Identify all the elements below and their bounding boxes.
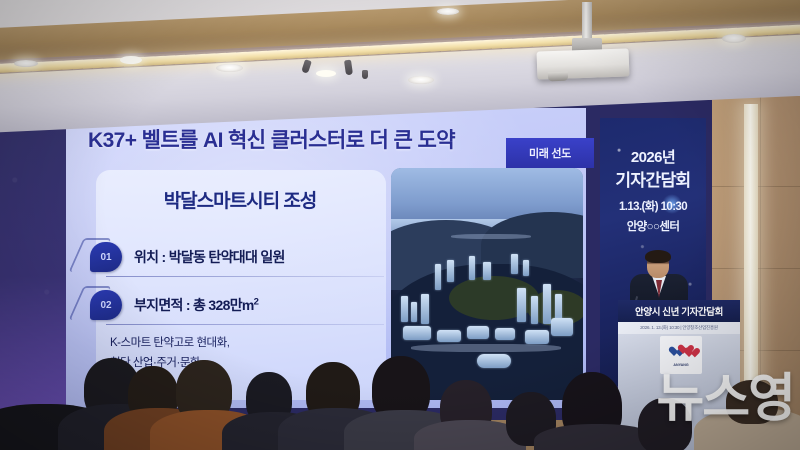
- photo-scene: K37+ 벨트를 AI 혁신 클러스터로 더 큰 도약 미래 선도 박달스마트시…: [0, 0, 800, 450]
- rendering-building: [517, 288, 526, 322]
- row-label: 부지면적 : 총 328만m2: [134, 295, 258, 315]
- rendering-building: [525, 330, 549, 344]
- downlight-icon: [316, 70, 336, 77]
- emblem-label: ANYANG: [673, 363, 688, 367]
- rendering-building: [511, 254, 518, 274]
- podium-banner-subtitle: 2026. 1. 13.(화) 10:30 | 안양창조산업진흥원: [618, 322, 740, 334]
- downlight-icon: [216, 64, 243, 72]
- banner-location: 안양○○센터: [600, 218, 706, 234]
- slide-title: K37+ 벨트를 AI 혁신 클러스터로 더 큰 도약: [88, 124, 455, 154]
- rendering-building: [447, 260, 454, 282]
- slide-subline: K-스마트 탄약고로 현대화,: [110, 334, 229, 350]
- row-label-superscript: 2: [254, 296, 259, 307]
- rendering-building: [469, 256, 475, 280]
- downlight-icon: [437, 8, 459, 15]
- rendering-building: [411, 302, 417, 322]
- rendering-building: [437, 330, 461, 342]
- rendering-building: [403, 326, 431, 340]
- rendering-building: [435, 264, 441, 290]
- emblem-heart-red: [683, 348, 694, 359]
- banner-event-name: 기자간담회: [600, 166, 706, 191]
- emblem-hearts: [668, 344, 694, 362]
- future-badge: 미래 선도: [506, 138, 594, 168]
- rendering-road: [411, 344, 561, 352]
- news-watermark: 뉴스영: [572, 368, 798, 430]
- rendering-road: [451, 234, 531, 239]
- slide-row: 01 위치 : 박달동 탄약대대 일원: [90, 240, 390, 274]
- banner-datetime: 1.13.(화) 10:30: [600, 198, 706, 214]
- rendering-building: [543, 284, 551, 324]
- projector-mount-rod: [582, 2, 592, 42]
- rendering-building: [467, 326, 489, 339]
- row-label: 위치 : 박달동 탄약대대 일원: [134, 247, 285, 267]
- row-number-badge: 01: [90, 242, 122, 272]
- banner-year: 2026년: [600, 146, 706, 167]
- rendering-stadium: [477, 354, 511, 368]
- rendering-building: [421, 294, 429, 324]
- downlight-icon: [14, 60, 38, 67]
- downlight-icon: [408, 76, 434, 84]
- led-wall-left-panel: [0, 100, 68, 420]
- downlight-icon: [120, 56, 142, 64]
- projector-lens: [548, 72, 568, 82]
- rendering-building: [551, 318, 573, 336]
- rendering-building: [523, 260, 529, 276]
- row-divider: [106, 324, 384, 325]
- row-divider: [106, 276, 384, 277]
- rendering-building: [495, 328, 515, 340]
- rendering-building: [483, 262, 491, 280]
- row-number-badge: 02: [90, 290, 122, 320]
- speaker-hair: [645, 250, 671, 263]
- rendering-building: [531, 296, 538, 324]
- card-heading: 박달스마트시티 조성: [100, 186, 380, 213]
- downlight-icon: [722, 34, 746, 43]
- row-label-text: 부지면적 : 총 328만m: [134, 297, 254, 313]
- podium-banner-title: 안양시 신년 기자간담회: [618, 300, 740, 322]
- spotlight-icon: [362, 70, 368, 79]
- slide-row: 02 부지면적 : 총 328만m2: [90, 288, 390, 322]
- rendering-building: [401, 296, 408, 322]
